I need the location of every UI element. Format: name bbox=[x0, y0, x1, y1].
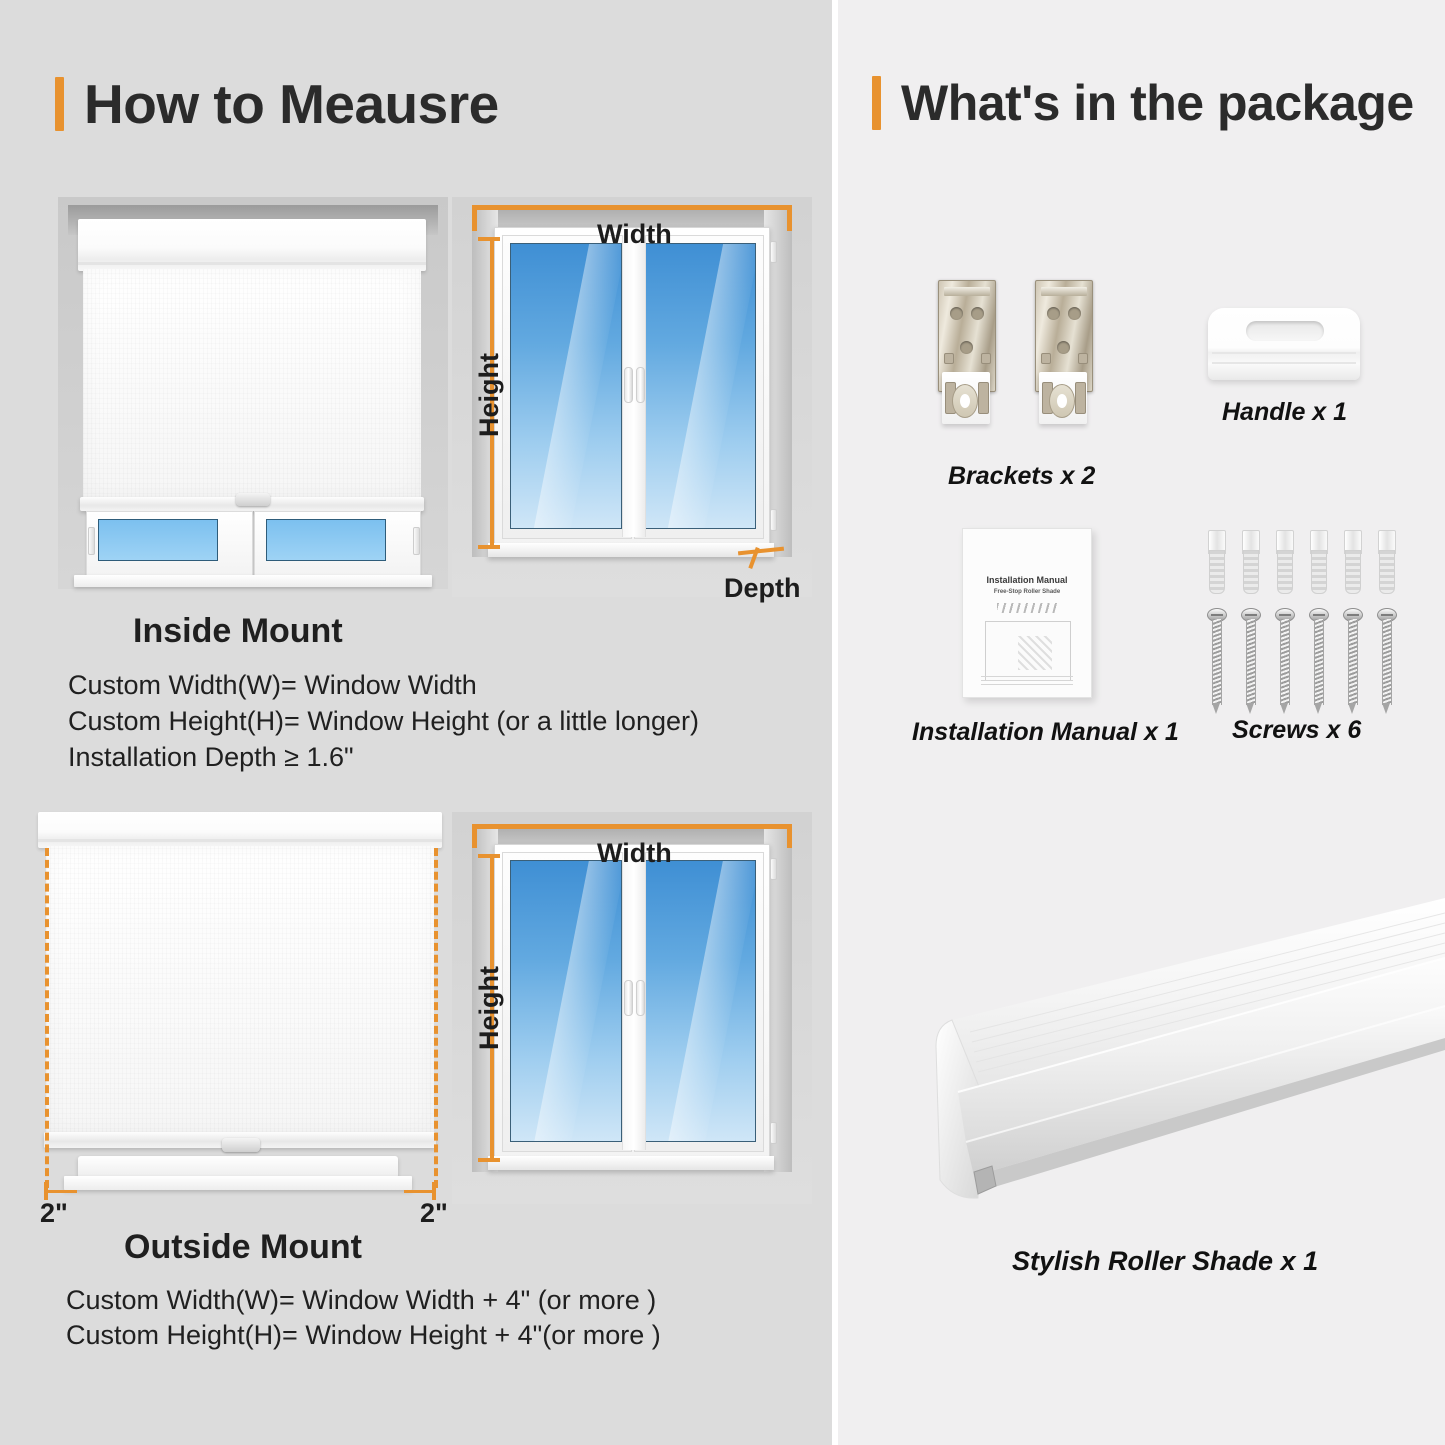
screw-icon bbox=[1275, 608, 1293, 714]
height-label: Height bbox=[474, 966, 505, 1050]
screw-icon bbox=[1207, 608, 1225, 714]
width-tick-right bbox=[787, 824, 792, 848]
infographic-page: How to Meausre What's in the package bbox=[0, 0, 1445, 1445]
roller-shade-icon bbox=[900, 880, 1445, 1210]
height-tick-top bbox=[478, 854, 500, 858]
diagram-latch-top-icon bbox=[770, 858, 777, 880]
overhang-guide-left bbox=[45, 848, 49, 1188]
diagram-handle-right-icon bbox=[636, 367, 645, 403]
diagram-sill bbox=[488, 543, 774, 557]
diagram-glass-left bbox=[510, 243, 622, 529]
overhang-guide-right bbox=[434, 848, 438, 1188]
diagram-glass-right bbox=[644, 860, 756, 1142]
screw-icon bbox=[1309, 608, 1327, 714]
shade-pull-handle[interactable] bbox=[236, 493, 270, 506]
height-label: Height bbox=[474, 353, 505, 437]
shade-fabric bbox=[83, 269, 421, 499]
outside-mount-window-diagram: Width Height bbox=[452, 812, 812, 1204]
manual-cover-subtitle: Free-Stop Roller Shade bbox=[963, 589, 1091, 595]
width-tick-right bbox=[787, 205, 792, 231]
inside-mount-line-2: Custom Height(H)= Window Height (or a li… bbox=[68, 706, 699, 737]
inside-mount-title: Inside Mount bbox=[133, 612, 343, 651]
diagram-handle-left-icon bbox=[624, 980, 633, 1016]
width-dimension-line bbox=[472, 824, 792, 829]
diagram-glass-right bbox=[644, 243, 756, 529]
diagram-sill bbox=[488, 1156, 774, 1170]
handle-icon bbox=[1208, 308, 1360, 380]
wall-anchor-icon bbox=[1240, 530, 1260, 592]
roller-shade-label: Stylish Roller Shade x 1 bbox=[1012, 1246, 1318, 1277]
manual-cover-title: Installation Manual bbox=[963, 575, 1091, 585]
diagram-handle-right-icon bbox=[636, 980, 645, 1016]
overhang-label-left: 2" bbox=[40, 1198, 68, 1229]
window-glass-left bbox=[98, 519, 218, 561]
screw-icon bbox=[1343, 608, 1361, 714]
window-sill-apron bbox=[64, 1176, 412, 1190]
accent-bar-icon bbox=[872, 76, 881, 130]
width-label: Width bbox=[597, 838, 672, 869]
brackets-label: Brackets x 2 bbox=[948, 462, 1095, 491]
height-tick-bottom bbox=[478, 545, 500, 549]
window-latch-left-icon bbox=[88, 527, 95, 555]
outside-mount-shade-illustration bbox=[38, 812, 442, 1204]
window-glass-right bbox=[266, 519, 386, 561]
manual-icon: Installation Manual Free-Stop Roller Sha… bbox=[962, 528, 1092, 698]
how-to-measure-heading: How to Meausre bbox=[55, 72, 499, 136]
wall-anchor-icon bbox=[1206, 530, 1226, 592]
diagram-latch-bottom-icon bbox=[770, 1122, 777, 1144]
wall-anchor-icon bbox=[1274, 530, 1294, 592]
manual-label: Installation Manual x 1 bbox=[912, 718, 1179, 747]
overhang-label-right: 2" bbox=[420, 1198, 448, 1229]
screw-icon bbox=[1241, 608, 1259, 714]
outside-mount-line-1: Custom Width(W)= Window Width + 4" (or m… bbox=[66, 1285, 656, 1316]
outside-mount-line-2: Custom Height(H)= Window Height + 4"(or … bbox=[66, 1320, 661, 1351]
window-sill bbox=[78, 1156, 398, 1178]
diagram-handle-left-icon bbox=[624, 367, 633, 403]
bracket-icon bbox=[938, 280, 994, 430]
diagram-glass-left bbox=[510, 860, 622, 1142]
wall-anchor-icon bbox=[1308, 530, 1328, 592]
width-tick-left bbox=[472, 205, 477, 231]
outside-mount-title: Outside Mount bbox=[124, 1228, 362, 1267]
shade-fabric bbox=[46, 846, 434, 1134]
accent-bar-icon bbox=[55, 77, 64, 131]
window-sill bbox=[74, 575, 432, 587]
diagram-latch-bottom-icon bbox=[770, 509, 777, 531]
overhang-arrow-left bbox=[45, 1190, 77, 1193]
height-tick-top bbox=[478, 237, 500, 241]
screw-icon bbox=[1377, 608, 1395, 714]
inside-mount-window-diagram: Width Height Depth bbox=[452, 197, 812, 597]
width-tick-left bbox=[472, 824, 477, 848]
inside-mount-line-3: Installation Depth ≥ 1.6" bbox=[68, 742, 354, 773]
window-latch-right-icon bbox=[413, 527, 420, 555]
screws-label: Screws x 6 bbox=[1232, 716, 1361, 745]
wall-anchor-icon bbox=[1342, 530, 1362, 592]
shade-pull-handle[interactable] bbox=[222, 1138, 260, 1152]
whats-in-package-title: What's in the package bbox=[901, 74, 1414, 132]
depth-label: Depth bbox=[724, 573, 801, 604]
shade-valance bbox=[38, 812, 442, 848]
handle-label: Handle x 1 bbox=[1222, 398, 1347, 427]
shade-valance bbox=[78, 219, 426, 271]
height-tick-bottom bbox=[478, 1158, 500, 1162]
bracket-icon bbox=[1035, 280, 1091, 430]
diagram-latch-top-icon bbox=[770, 241, 777, 263]
width-dimension-line bbox=[472, 205, 792, 210]
inside-mount-line-1: Custom Width(W)= Window Width bbox=[68, 670, 477, 701]
width-label: Width bbox=[597, 219, 672, 250]
wall-anchor-icon bbox=[1376, 530, 1396, 592]
whats-in-package-heading: What's in the package bbox=[872, 74, 1414, 132]
how-to-measure-title: How to Meausre bbox=[84, 72, 499, 136]
inside-mount-shade-illustration bbox=[58, 197, 448, 589]
